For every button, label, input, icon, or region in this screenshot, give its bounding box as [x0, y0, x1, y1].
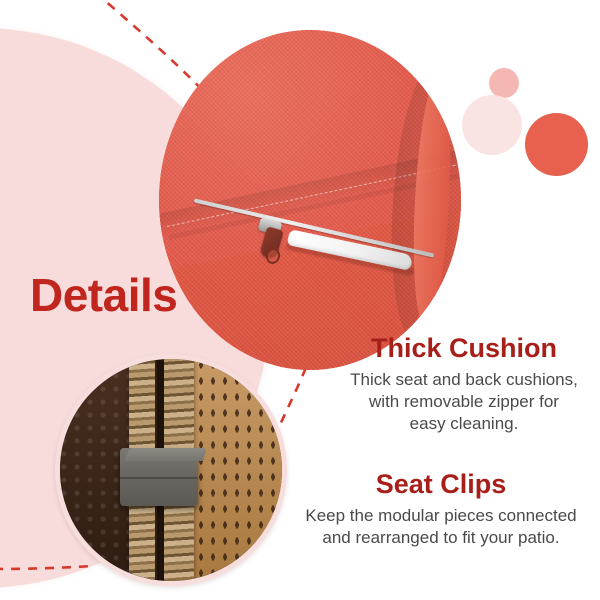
clip-photo-content [60, 359, 282, 581]
feature-seat-clips-body-line-2: and rearranged to fit your patio. [322, 528, 559, 547]
clip-photo [55, 354, 287, 586]
woven-rattan-panel [184, 359, 282, 581]
page-title: Details [30, 272, 177, 318]
feature-thick-cushion-body-line-2: with removable zipper for [369, 392, 559, 411]
feature-seat-clips-body-line-1: Keep the modular pieces connected [305, 506, 576, 525]
details-infographic: Details Thick Cushion Thick seat and bac… [0, 0, 600, 600]
solid-coral-dot [525, 113, 588, 176]
feature-thick-cushion: Thick Cushion Thick seat and back cushio… [330, 333, 598, 434]
seat-clip-top-face [125, 448, 207, 461]
small-pink-dot [489, 68, 519, 98]
feature-seat-clips: Seat Clips Keep the modular pieces conne… [282, 469, 600, 549]
cushion-photo-content [159, 30, 461, 370]
pale-pink-dot [462, 95, 522, 155]
feature-seat-clips-body: Keep the modular pieces connected and re… [282, 505, 600, 549]
feature-seat-clips-title: Seat Clips [282, 469, 600, 500]
feature-thick-cushion-body-line-3: easy cleaning. [410, 414, 519, 433]
feature-thick-cushion-title: Thick Cushion [330, 333, 598, 364]
seat-clip-seam [120, 477, 198, 479]
feature-thick-cushion-body-line-1: Thick seat and back cushions, [350, 370, 578, 389]
feature-thick-cushion-body: Thick seat and back cushions, with remov… [330, 369, 598, 434]
cushion-photo [159, 30, 461, 370]
